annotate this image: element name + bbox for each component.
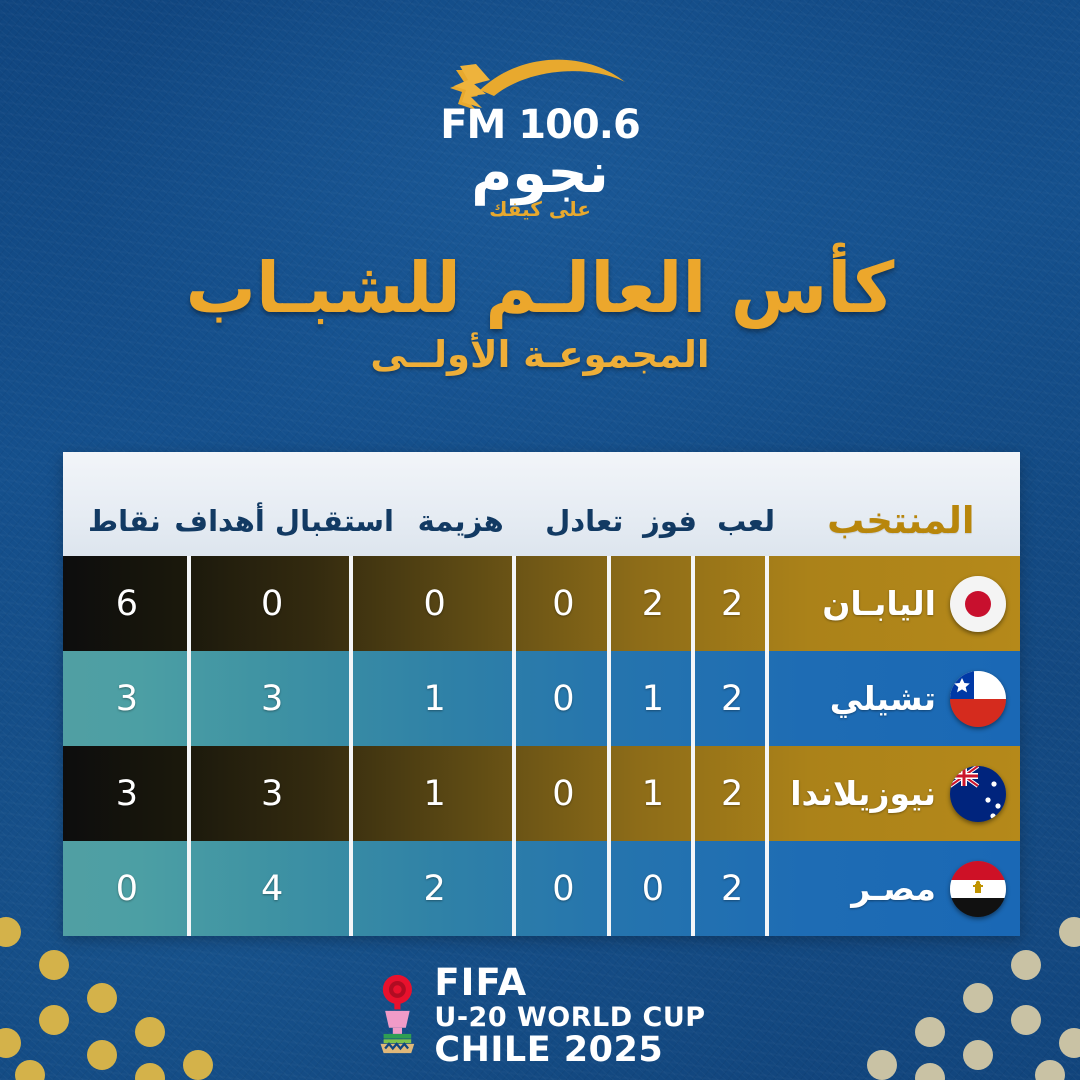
japan-flag-icon <box>950 576 1006 632</box>
team-cell: مصـر <box>769 841 1020 936</box>
title-block: كأس العالـم للشبـاب المجموعـة الأولــى <box>0 253 1080 376</box>
team-name: مصـر <box>851 869 936 908</box>
column-header-drawn: تعادل <box>539 452 630 556</box>
fifa-logo-text: FIFA U-20 WORLD CUP CHILE 2025 <box>434 964 705 1068</box>
points-cell: 3 <box>63 651 191 746</box>
table-row: اليابـان 2 2 0 0 0 6 <box>63 556 1020 651</box>
table-row: مصـر 2 0 0 2 4 0 <box>63 841 1020 936</box>
column-header-team: المنتخب <box>782 452 1020 556</box>
table-header-row: المنتخب لعب فوز تعادل هزيمة استقبال أهدا… <box>63 452 1020 556</box>
fifa-tournament-logo: FIFA U-20 WORLD CUP CHILE 2025 <box>374 964 705 1068</box>
points-cell: 6 <box>63 556 191 651</box>
points-cell: 3 <box>63 746 191 841</box>
goals-against-cell: 4 <box>191 841 354 936</box>
fifa-line-2: U-20 WORLD CUP <box>434 1004 705 1031</box>
new-zealand-flag-icon <box>950 766 1006 822</box>
fifa-line-3: CHILE 2025 <box>434 1033 705 1068</box>
team-name: اليابـان <box>822 584 936 623</box>
goals-against-cell: 3 <box>191 651 354 746</box>
lost-cell: 1 <box>353 746 516 841</box>
team-cell: اليابـان <box>769 556 1020 651</box>
drawn-cell: 0 <box>516 651 611 746</box>
column-header-played: لعب <box>710 452 781 556</box>
won-cell: 2 <box>611 556 695 651</box>
goals-against-cell: 0 <box>191 556 354 651</box>
won-cell: 1 <box>611 651 695 746</box>
team-name: تشيلي <box>830 679 936 718</box>
page-subtitle: المجموعـة الأولــى <box>0 333 1080 376</box>
lost-cell: 2 <box>353 841 516 936</box>
egypt-flag-icon <box>950 861 1006 917</box>
standings-table: المنتخب لعب فوز تعادل هزيمة استقبال أهدا… <box>63 452 1020 936</box>
won-cell: 0 <box>611 841 695 936</box>
drawn-cell: 0 <box>516 841 611 936</box>
column-header-goals-against: استقبال أهداف <box>186 452 383 556</box>
played-cell: 2 <box>695 746 769 841</box>
column-header-won: فوز <box>630 452 711 556</box>
team-name: نيوزيلاندا <box>790 774 936 813</box>
goals-against-cell: 3 <box>191 746 354 841</box>
played-cell: 2 <box>695 841 769 936</box>
played-cell: 2 <box>695 556 769 651</box>
drawn-cell: 0 <box>516 746 611 841</box>
points-cell: 0 <box>63 841 191 936</box>
column-header-lost: هزيمة <box>383 452 539 556</box>
played-cell: 2 <box>695 651 769 746</box>
table-row: تشيلي 2 1 0 1 3 3 <box>63 651 1020 746</box>
svg-text:على كيفك: على كيفك <box>489 197 591 221</box>
won-cell: 1 <box>611 746 695 841</box>
team-cell: تشيلي <box>769 651 1020 746</box>
table-row: نيوزيلاندا 2 1 0 1 3 3 <box>63 746 1020 841</box>
fifa-u20-trophy-icon <box>374 968 420 1064</box>
team-cell: نيوزيلاندا <box>769 746 1020 841</box>
chile-flag-icon <box>950 671 1006 727</box>
page-title: كأس العالـم للشبـاب <box>0 253 1080 324</box>
lost-cell: 0 <box>353 556 516 651</box>
drawn-cell: 0 <box>516 556 611 651</box>
lost-cell: 1 <box>353 651 516 746</box>
column-header-points: نقاط <box>63 452 186 556</box>
fifa-line-1: FIFA <box>434 964 705 1001</box>
radio-station-logo: 100.6 FM نجوم على كيفك <box>410 34 670 224</box>
